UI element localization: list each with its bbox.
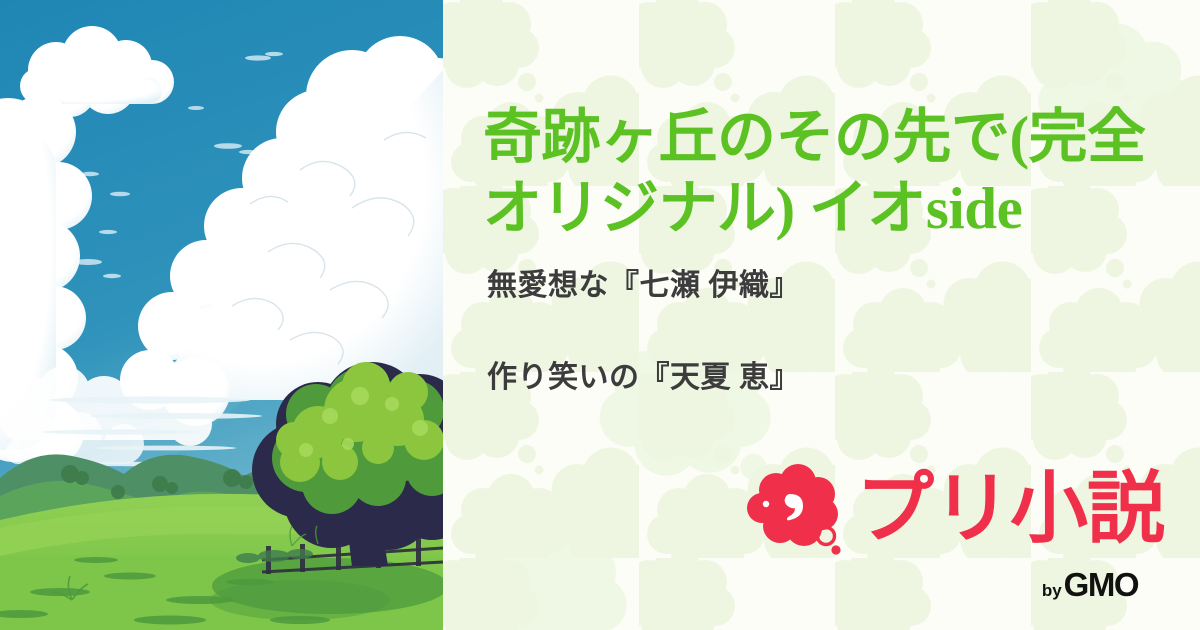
by-label: by — [1042, 582, 1062, 601]
cover-illustration — [0, 0, 443, 630]
pri-novel-logo[interactable]: プリ小説 by GMO — [746, 460, 1166, 610]
subtitle-line-1: 無愛想な『七瀬 伊織』 — [487, 268, 800, 304]
logo-wordmark: プリ小説 — [856, 469, 1164, 547]
page-title: 奇跡ヶ丘のその先で(完全オリジナル) イオside — [483, 102, 1183, 246]
subtitle-line-2: 作り笑いの『天夏 恵』 — [487, 360, 800, 396]
thought-bubble-icon — [746, 460, 842, 556]
gmo-wordmark: GMO — [1064, 568, 1138, 601]
logo-row: プリ小説 — [746, 460, 1164, 556]
og-card: 奇跡ヶ丘のその先で(完全オリジナル) イオside 無愛想な『七瀬 伊織』 作り… — [0, 0, 1200, 630]
by-gmo-lockup: by GMO — [1042, 568, 1138, 601]
content-panel: 奇跡ヶ丘のその先で(完全オリジナル) イオside 無愛想な『七瀬 伊織』 作り… — [443, 0, 1200, 630]
